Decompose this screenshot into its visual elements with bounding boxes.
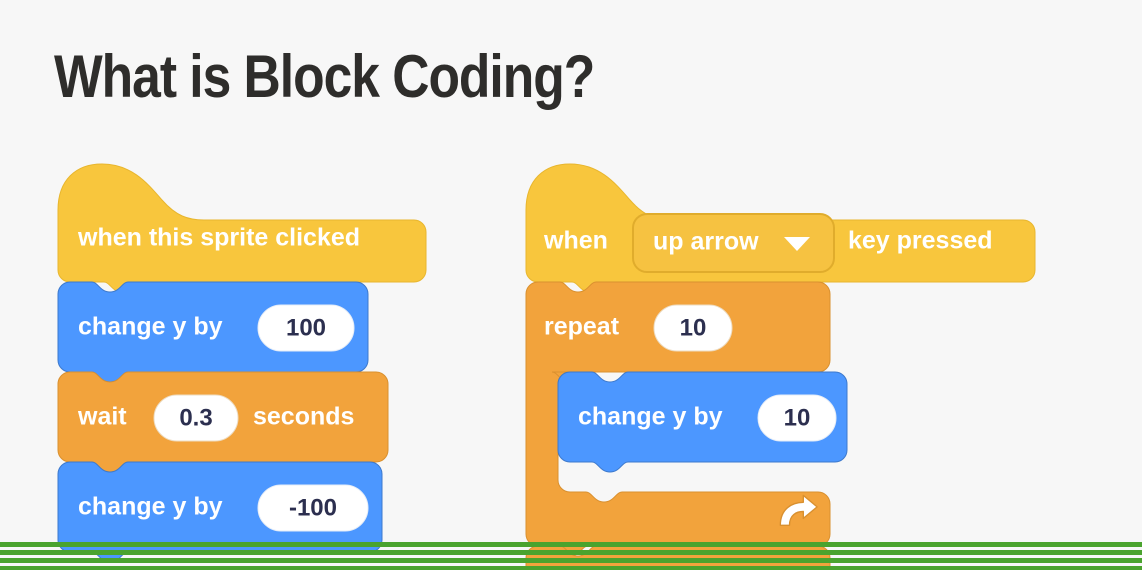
sprite-clicked-script[interactable]: when this sprite clicked change y by 100… bbox=[58, 162, 458, 562]
wait-label-before: wait bbox=[77, 403, 127, 431]
change-y-input-value-2: -100 bbox=[289, 494, 337, 521]
change-y-by-block-2[interactable]: change y by -100 bbox=[58, 462, 382, 562]
key-dropdown[interactable]: up arrow bbox=[633, 214, 834, 272]
change-y-by-block-3[interactable]: change y by 10 bbox=[558, 372, 847, 472]
wait-seconds-input-value: 0.3 bbox=[179, 404, 212, 431]
change-y-input-value-3: 10 bbox=[784, 404, 811, 431]
key-dropdown-value: up arrow bbox=[653, 228, 759, 256]
change-y-by-label-1: change y by bbox=[78, 313, 223, 341]
wait-label-after: seconds bbox=[253, 403, 354, 431]
block-workspace: when this sprite clicked change y by 100… bbox=[0, 0, 1142, 570]
key-pressed-script[interactable]: when up arrow key pressed repeat 10 bbox=[526, 162, 1066, 562]
when-key-pressed-label-before: when bbox=[543, 227, 608, 255]
when-key-pressed-label-after: key pressed bbox=[848, 227, 993, 255]
repeat-count-input[interactable]: 10 bbox=[654, 305, 732, 351]
when-this-sprite-clicked-label: when this sprite clicked bbox=[77, 224, 360, 252]
repeat-count-value: 10 bbox=[680, 314, 707, 341]
change-y-by-block-1[interactable]: change y by 100 bbox=[58, 282, 368, 382]
change-y-input-2[interactable]: -100 bbox=[258, 485, 368, 531]
when-key-pressed-block[interactable]: when up arrow key pressed bbox=[526, 164, 1035, 292]
change-y-input-3[interactable]: 10 bbox=[758, 395, 836, 441]
change-y-by-label-3: change y by bbox=[578, 403, 723, 431]
change-y-input-1[interactable]: 100 bbox=[258, 305, 354, 351]
repeat-label: repeat bbox=[544, 313, 620, 341]
when-this-sprite-clicked-block[interactable]: when this sprite clicked bbox=[58, 164, 426, 292]
change-y-input-value-1: 100 bbox=[286, 314, 326, 341]
wait-seconds-input[interactable]: 0.3 bbox=[154, 395, 238, 441]
change-y-by-label-2: change y by bbox=[78, 493, 223, 521]
wait-seconds-block[interactable]: wait 0.3 seconds bbox=[58, 372, 388, 472]
